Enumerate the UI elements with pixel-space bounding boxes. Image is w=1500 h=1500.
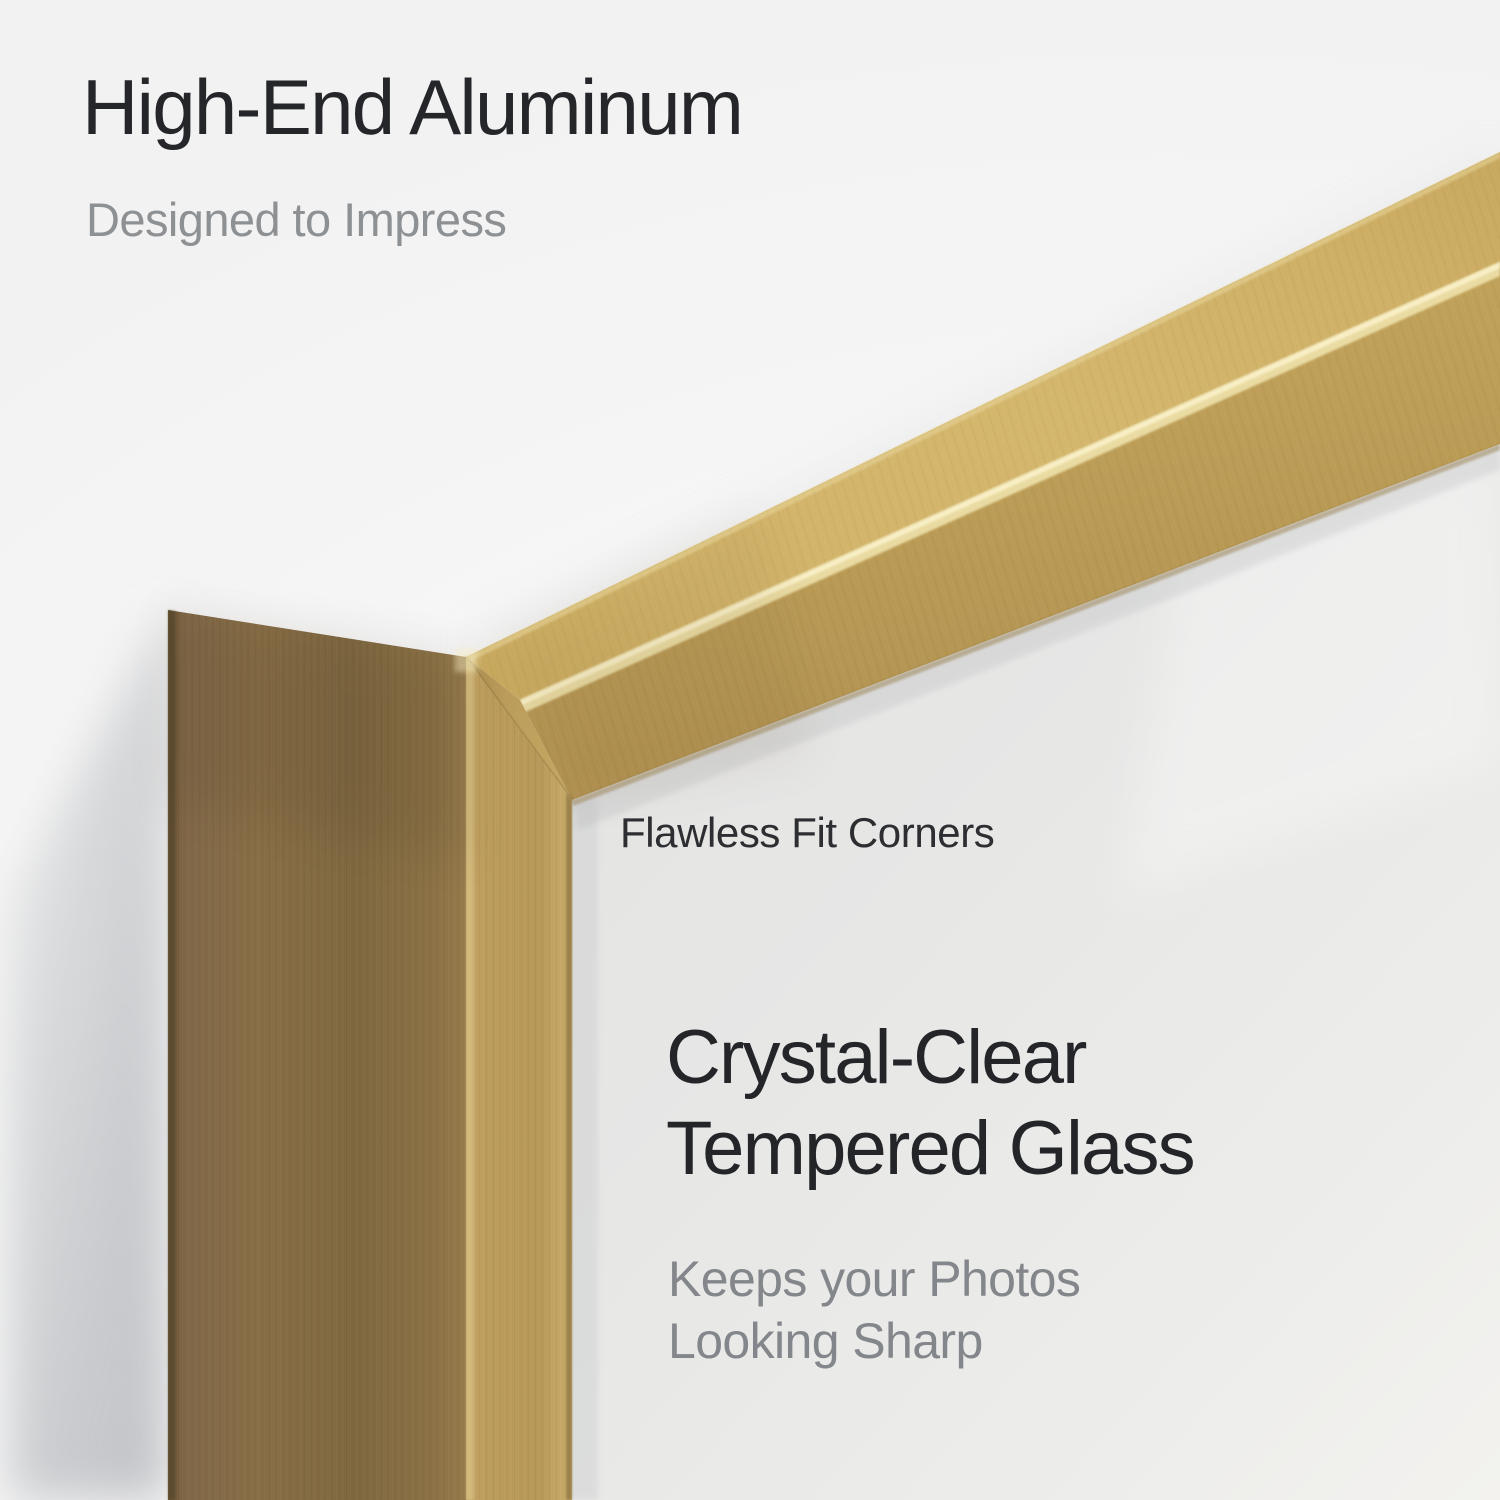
page-title: High-End Aluminum bbox=[82, 68, 742, 146]
product-feature-image: High-End Aluminum Designed to Impress Fl… bbox=[0, 0, 1500, 1500]
left-rail-arris-highlight bbox=[466, 657, 474, 1500]
frame-left-rail bbox=[168, 610, 572, 1500]
corner-vertex-highlight bbox=[455, 648, 478, 672]
callout-flawless-fit-corners: Flawless Fit Corners bbox=[620, 812, 994, 854]
callout-glass-title: Crystal-Clear Tempered Glass bbox=[666, 1012, 1194, 1194]
page-subtitle: Designed to Impress bbox=[86, 196, 506, 243]
callout-glass-subtext: Keeps your Photos Looking Sharp bbox=[668, 1248, 1080, 1372]
